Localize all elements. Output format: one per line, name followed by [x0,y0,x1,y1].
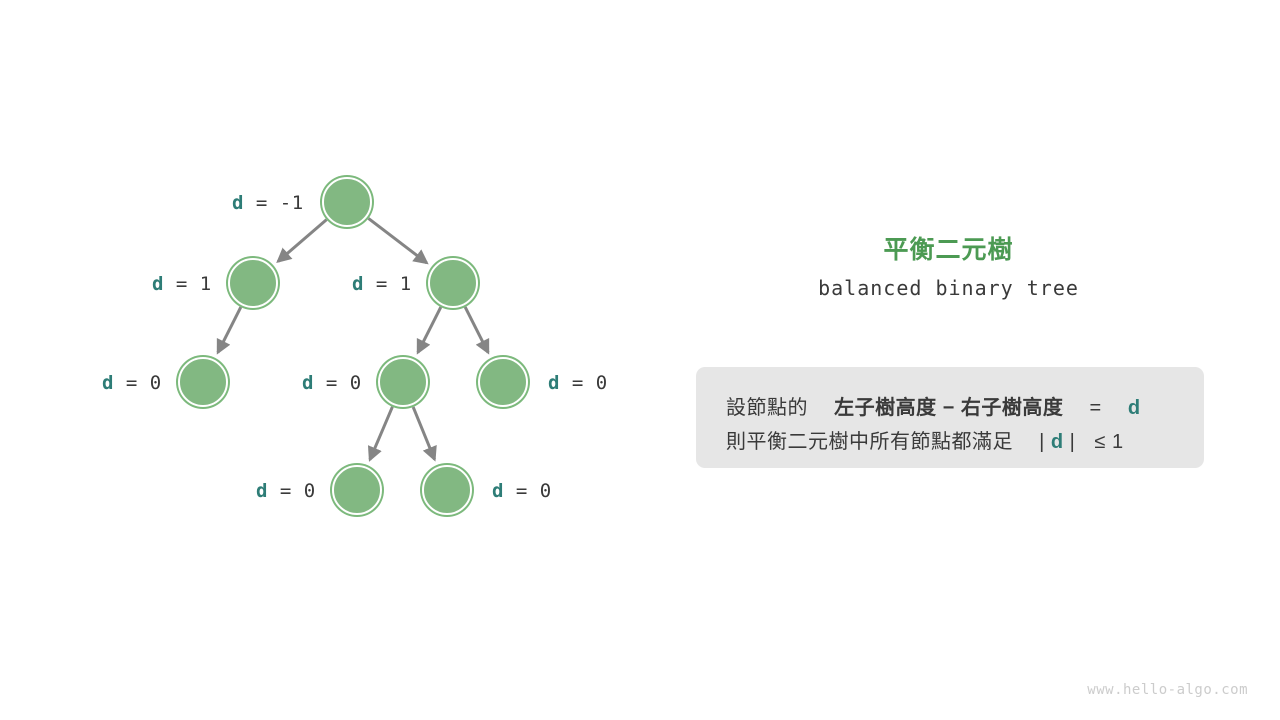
tree-node[interactable] [178,357,228,407]
node-balance-label: d = 0 [102,372,162,394]
definition-prefix-2: 則平衡二元樹中所有節點都滿足 [726,431,1013,453]
tree-node[interactable] [478,357,528,407]
balance-variable: d [256,480,268,502]
node-balance-label: d = 0 [548,372,608,394]
balance-variable: d [492,480,504,502]
diagram-canvas: d = -1d = 1d = 1d = 0d = 0d = 0d = 0d = … [0,0,1280,720]
watermark: www.hello-algo.com [1087,682,1248,698]
tree-node[interactable] [322,177,372,227]
definition-equals: = [1090,397,1102,419]
balance-value: = 0 [114,372,162,394]
tree-edges [218,218,488,459]
definition-formula: 左子樹高度 − 右子樹高度 [834,397,1063,419]
definition-variable-d-abs: d [1051,431,1064,453]
balance-variable: d [352,273,364,295]
node-balance-label: d = 0 [492,480,552,502]
definition-box: 設節點的 左子樹高度 − 右子樹高度 = d 則平衡二元樹中所有節點都滿足 | … [696,367,1204,468]
tree-edge [413,407,434,459]
tree-edge [465,307,488,352]
balance-variable: d [152,273,164,295]
balance-variable: d [102,372,114,394]
balance-value: = 1 [364,273,412,295]
tree-edge [368,218,426,263]
balance-variable: d [302,372,314,394]
node-balance-label: d = 0 [302,372,362,394]
panel-title: 平衡二元樹 [660,230,1237,266]
abs-bar-open: | [1039,431,1045,453]
abs-bar-close: | [1070,431,1076,453]
balance-variable: d [548,372,560,394]
definition-line-2: 則平衡二元樹中所有節點都滿足 | d | ≤ 1 [726,425,1124,454]
tree-node[interactable] [228,258,278,308]
tree-edge [370,407,392,460]
panel-subtitle: balanced binary tree [660,276,1237,300]
tree-edge [278,220,327,262]
balance-value: = 0 [268,480,316,502]
node-balance-label: d = 1 [352,273,412,295]
balance-value: = 1 [164,273,212,295]
tree-node[interactable] [332,465,382,515]
balance-variable: d [232,192,244,214]
node-balance-label: d = 1 [152,273,212,295]
tree-edge [418,307,441,352]
node-balance-label: d = 0 [256,480,316,502]
tree-node[interactable] [378,357,428,407]
binary-tree-diagram: d = -1d = 1d = 1d = 0d = 0d = 0d = 0d = … [0,0,660,720]
tree-edge-layer [0,0,660,720]
definition-line-1: 設節點的 左子樹高度 − 右子樹高度 = d [726,391,1141,420]
info-panel: 平衡二元樹 balanced binary tree 設節點的 左子樹高度 − … [660,0,1280,720]
definition-prefix-1: 設節點的 [726,397,808,419]
tree-node[interactable] [428,258,478,308]
balance-value: = 0 [504,480,552,502]
definition-relation: ≤ 1 [1095,431,1124,453]
tree-node[interactable] [422,465,472,515]
tree-edge [218,307,241,352]
balance-value: = 0 [560,372,608,394]
balance-value: = 0 [314,372,362,394]
balance-value: = -1 [244,192,304,214]
definition-variable-d: d [1128,397,1141,419]
node-balance-label: d = -1 [232,192,304,214]
